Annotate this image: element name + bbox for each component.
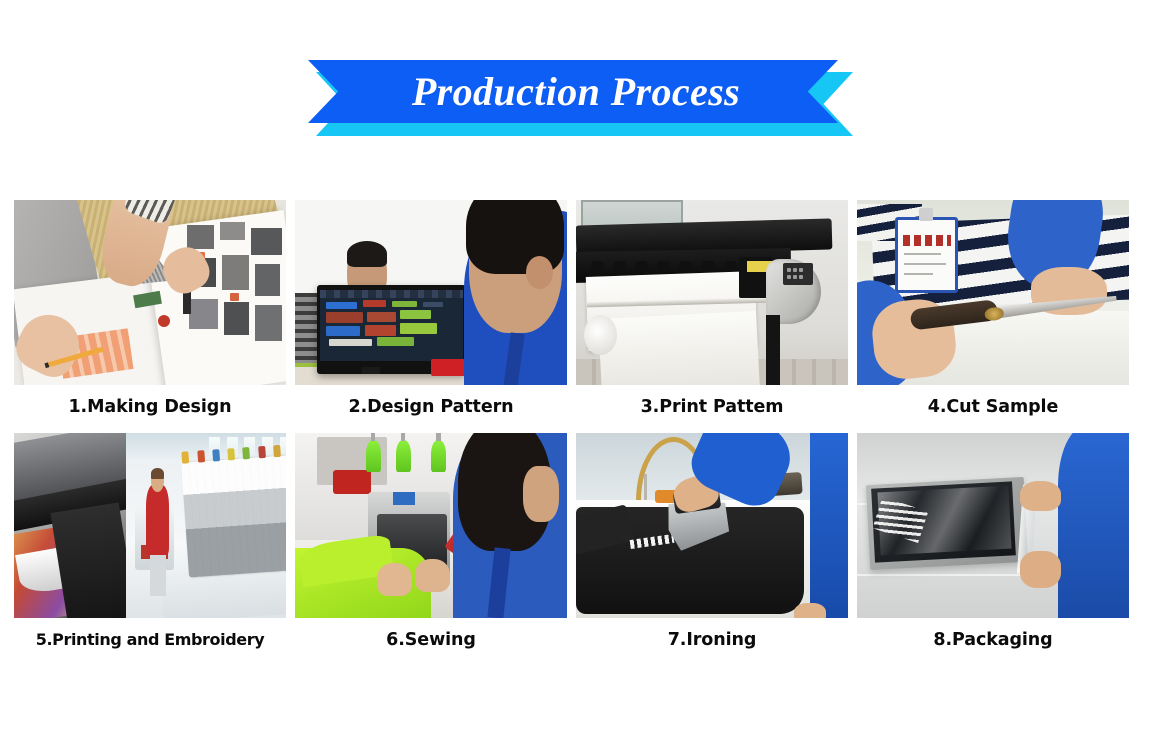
process-step-caption-4: 4.Cut Sample [857,397,1129,417]
process-step-image-8[interactable] [857,433,1129,618]
process-step-card-5[interactable]: 5.Printing and Embroidery [14,433,286,650]
process-step-caption-5: 5.Printing and Embroidery [14,630,286,649]
banner-blue-ribbon: Production Process [308,60,838,123]
process-step-image-6[interactable] [295,433,567,618]
process-step-caption-2: 2.Design Pattern [295,397,567,417]
process-step-card-4[interactable]: 4.Cut Sample [857,200,1129,417]
process-step-image-1[interactable] [14,200,286,385]
page-title-banner: Production Process [308,60,853,132]
process-step-card-6[interactable]: 6.Sewing [295,433,567,650]
process-step-caption-3: 3.Print Pattem [576,397,848,417]
process-step-card-2[interactable]: 2.Design Pattern [295,200,567,417]
process-step-card-3[interactable]: 3.Print Pattem [576,200,848,417]
process-step-image-2[interactable] [295,200,567,385]
process-step-image-5[interactable] [14,433,286,618]
process-step-caption-1: 1.Making Design [14,397,286,417]
process-step-caption-8: 8.Packaging [857,630,1129,650]
process-step-image-3[interactable] [576,200,848,385]
process-step-card-1[interactable]: 1.Making Design [14,200,286,417]
process-step-image-4[interactable] [857,200,1129,385]
page-title: Production Process [406,72,740,112]
process-step-image-7[interactable] [576,433,848,618]
process-step-caption-7: 7.Ironing [576,630,848,650]
process-step-caption-6: 6.Sewing [295,630,567,650]
process-step-card-7[interactable]: 7.Ironing [576,433,848,650]
production-process-grid: 1.Making Design [14,200,1140,650]
process-step-card-8[interactable]: 8.Packaging [857,433,1129,650]
